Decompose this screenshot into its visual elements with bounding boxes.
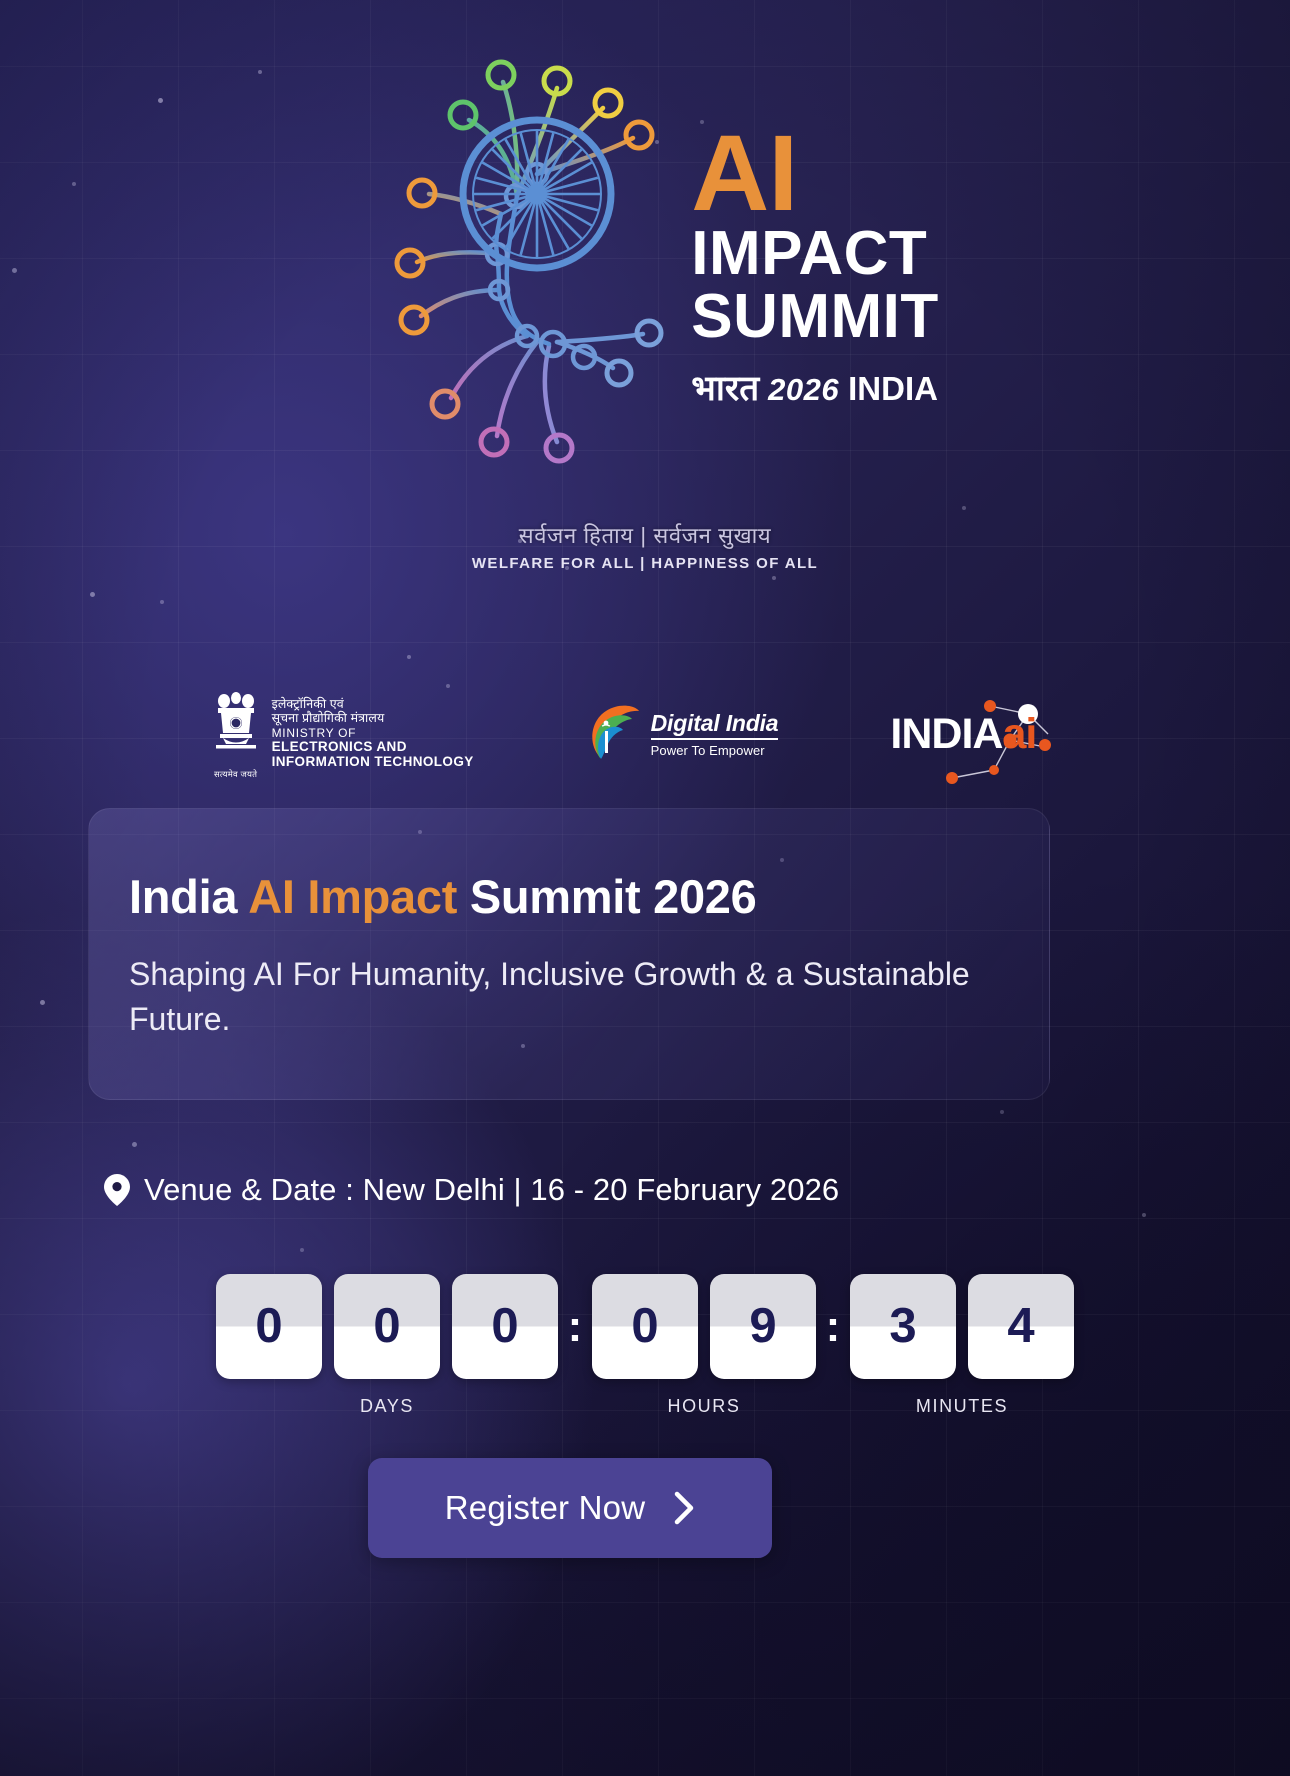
countdown-separator: : <box>558 1274 592 1379</box>
satyamev-jayate-text: सत्यमेव जयते <box>210 769 262 780</box>
meity-text-block: इलेक्ट्रॉनिकी एवं सूचना प्रौद्योगिकी मंत… <box>272 698 474 769</box>
countdown-label-hours: HOURS <box>667 1396 740 1417</box>
countdown-digit: 0 <box>255 1302 282 1351</box>
countdown-timer: 0 0 0 DAYS : 0 9 HOURS : 3 <box>0 1274 1290 1417</box>
motto-hindi: सर्वजन हिताय | सर्वजन सुखाय <box>0 520 1290 550</box>
countdown-digit-card: 0 <box>216 1274 322 1379</box>
countdown-digit: 3 <box>889 1302 916 1351</box>
digital-india-logo: Digital India Power To Empower <box>586 701 779 768</box>
meity-logo: सत्यमेव जयते इलेक्ट्रॉनिकी एवं सूचना प्र… <box>210 689 474 780</box>
indiaai-india-text: INDIA <box>890 710 1002 758</box>
headline-accent: AI Impact <box>248 870 457 923</box>
countdown-digit-card: 3 <box>850 1274 956 1379</box>
logo-bharat-text: भारत <box>691 364 759 411</box>
countdown-label-days: DAYS <box>360 1396 414 1417</box>
location-pin-icon <box>104 1174 130 1206</box>
digital-india-icon <box>586 701 642 768</box>
countdown-digit: 0 <box>491 1302 518 1351</box>
venue-and-date: Venue & Date : New Delhi | 16 - 20 Febru… <box>104 1172 839 1208</box>
page-title: India AI Impact Summit 2026 <box>129 869 1009 924</box>
register-now-label: Register Now <box>445 1489 645 1527</box>
logo-ai-text: AI <box>691 123 939 222</box>
logo-impact-text: IMPACT <box>691 222 939 285</box>
partner-logos: सत्यमेव जयते इलेक्ट्रॉनिकी एवं सूचना प्र… <box>0 684 1290 784</box>
venue-text: Venue & Date : New Delhi | 16 - 20 Febru… <box>144 1172 839 1208</box>
headline-part-2: Summit 2026 <box>457 870 756 923</box>
countdown-digit-card: 4 <box>968 1274 1074 1379</box>
meity-hindi-line1: इलेक्ट्रॉनिकी एवं <box>272 698 474 712</box>
chevron-right-icon <box>673 1491 695 1525</box>
logo-india-text: INDIA <box>848 370 938 408</box>
meity-electronics-line: ELECTRONICS AND <box>272 740 474 755</box>
countdown-digit: 4 <box>1007 1302 1034 1351</box>
indiaai-wordmark: INDIAai <box>890 710 1036 759</box>
meity-it-line: INFORMATION TECHNOLOGY <box>272 755 474 770</box>
countdown-group-minutes: 3 4 MINUTES <box>850 1274 1074 1417</box>
logo-year-text: 2026 <box>768 372 839 408</box>
digital-india-name: Digital India <box>651 710 779 740</box>
meity-hindi-line2: सूचना प्रौद्योगिकी मंत्रालय <box>272 712 474 726</box>
countdown-digit-card: 0 <box>334 1274 440 1379</box>
headline-part-1: India <box>129 870 248 923</box>
digital-india-tagline: Power To Empower <box>651 743 779 758</box>
countdown-digit-card: 9 <box>710 1274 816 1379</box>
digital-india-text: Digital India Power To Empower <box>651 710 779 758</box>
countdown-digit: 0 <box>373 1302 400 1351</box>
hero-card: India AI Impact Summit 2026 Shaping AI F… <box>88 808 1050 1100</box>
countdown-digit: 0 <box>631 1302 658 1351</box>
logo-year-row: भारत 2026 INDIA <box>691 364 939 411</box>
countdown-days-cards: 0 0 0 <box>216 1274 558 1379</box>
countdown-minutes-cards: 3 4 <box>850 1274 1074 1379</box>
countdown-label-minutes: MINUTES <box>916 1396 1008 1417</box>
countdown-digit-card: 0 <box>592 1274 698 1379</box>
register-now-button[interactable]: Register Now <box>368 1458 772 1558</box>
countdown-group-hours: 0 9 HOURS <box>592 1274 816 1417</box>
countdown-separator: : <box>816 1274 850 1379</box>
summit-logo-text: AI IMPACT SUMMIT भारत 2026 INDIA <box>691 123 939 412</box>
logo-summit-text: SUMMIT <box>691 285 939 348</box>
indiaai-logo: INDIAai <box>890 702 1080 766</box>
indiaai-ai-text: ai <box>1002 710 1036 758</box>
hero-subtitle: Shaping AI For Humanity, Inclusive Growt… <box>129 952 979 1043</box>
countdown-group-days: 0 0 0 DAYS <box>216 1274 558 1417</box>
countdown-digit-card: 0 <box>452 1274 558 1379</box>
countdown-hours-cards: 0 9 <box>592 1274 816 1379</box>
motto-block: सर्वजन हिताय | सर्वजन सुखाय WELFARE FOR … <box>0 520 1290 572</box>
ashoka-emblem-icon: सत्यमेव जयते <box>210 689 262 780</box>
countdown-digit: 9 <box>749 1302 776 1351</box>
motto-english: WELFARE FOR ALL | HAPPINESS OF ALL <box>0 555 1290 572</box>
summit-logo: AI IMPACT SUMMIT भारत 2026 INDIA <box>0 24 1290 464</box>
ashoka-chakra-network-icon <box>351 24 681 464</box>
